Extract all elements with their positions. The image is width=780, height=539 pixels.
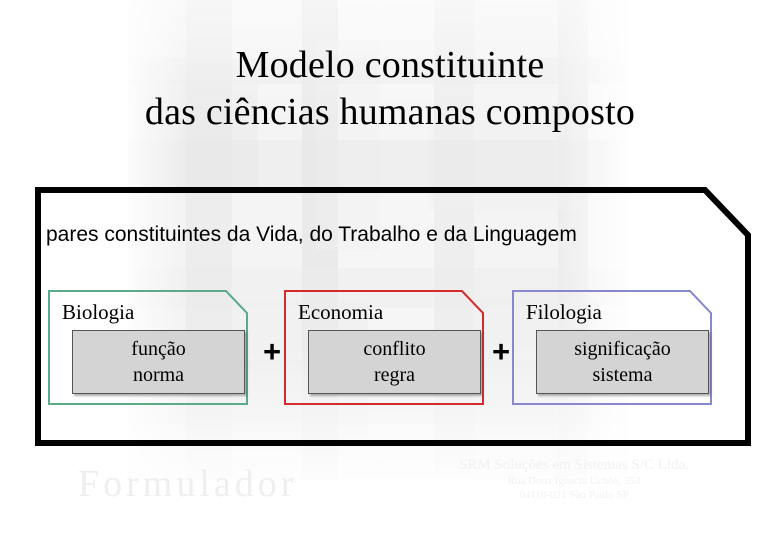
constituent-pairs-row: Biologia função norma + Economia conflit… — [35, 290, 751, 411]
terms-box-filologia: significação sistema — [536, 330, 709, 394]
term-economia-1: conflito — [363, 336, 425, 362]
pair-label-economia: Economia — [298, 300, 383, 325]
pair-box-economia[interactable]: Economia conflito regra — [284, 290, 484, 405]
term-filologia-1: significação — [574, 336, 671, 362]
product-watermark: Formulador — [78, 462, 297, 506]
connector-plus-2: + — [491, 341, 511, 363]
company-city: 04110-021 São Paulo SP — [404, 488, 744, 502]
page-title: Modelo constituinte das ciências humanas… — [0, 42, 780, 136]
model-container: pares constituintes da Vida, do Trabalho… — [35, 187, 751, 446]
pair-box-biologia[interactable]: Biologia função norma — [48, 290, 248, 405]
pair-label-biologia: Biologia — [62, 300, 134, 325]
term-biologia-2: norma — [133, 362, 184, 388]
pair-box-filologia[interactable]: Filologia significação sistema — [512, 290, 712, 405]
terms-box-economia: conflito regra — [308, 330, 481, 394]
slide-canvas: Modelo constituinte das ciências humanas… — [0, 0, 780, 539]
term-filologia-2: sistema — [593, 362, 653, 388]
company-name: SRM Soluções em Sistemas S/C Ltda. — [404, 457, 744, 474]
terms-box-biologia: função norma — [72, 330, 245, 394]
page-title-line-1: Modelo constituinte — [0, 42, 780, 89]
pair-label-filologia: Filologia — [526, 300, 602, 325]
diagram-subtitle: pares constituintes da Vida, do Trabalho… — [46, 223, 577, 247]
page-title-line-2: das ciências humanas composto — [0, 89, 780, 136]
connector-plus-1: + — [262, 341, 282, 363]
company-watermark: SRM Soluções em Sistemas S/C Ltda. Rua D… — [404, 457, 744, 502]
term-economia-2: regra — [374, 362, 415, 388]
company-street: Rua Dona Ignacia Uchôa, 353 — [404, 474, 744, 488]
term-biologia-1: função — [131, 336, 185, 362]
